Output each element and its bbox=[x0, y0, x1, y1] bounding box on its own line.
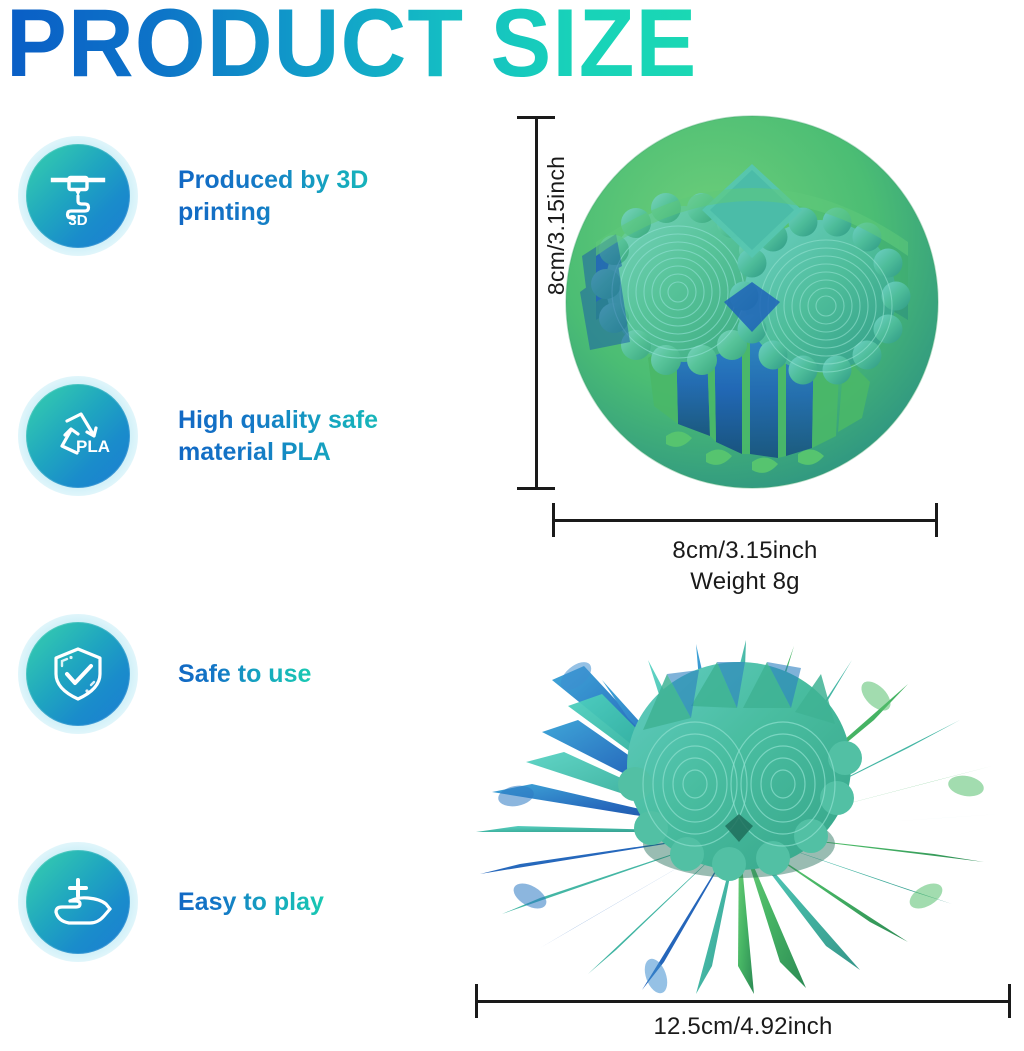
badge-circle bbox=[26, 850, 130, 954]
width-dimension-line-top bbox=[552, 519, 938, 522]
width-dimension-label-bottom: 12.5cm/4.92inch bbox=[475, 1012, 1011, 1043]
feature-item-easy-to-play: Easy to play bbox=[0, 836, 470, 968]
weight-label: Weight 8g bbox=[552, 567, 938, 598]
3d-icon-text: 3D bbox=[68, 212, 87, 229]
width-dimension-line-bottom bbox=[475, 1000, 1011, 1003]
feature-label: High quality safe material PLA bbox=[178, 404, 428, 468]
width-and-weight-label-top: 8cm/3.15inch Weight 8g bbox=[552, 536, 938, 597]
feature-label: Safe to use bbox=[178, 658, 311, 690]
feature-badge-easy-play bbox=[12, 836, 144, 968]
height-dimension-line bbox=[535, 116, 538, 490]
feature-badge-3d-printing: 3D bbox=[12, 130, 144, 262]
product-image-gear-ball-expanded bbox=[456, 596, 1022, 994]
height-dimension-label: 8cm/3.15inch bbox=[543, 156, 570, 295]
recycling-pla-icon: PLA bbox=[43, 401, 113, 471]
product-image-gear-ball-closed bbox=[556, 106, 948, 498]
feature-label: Produced by 3D printing bbox=[178, 164, 428, 228]
hand-plus-icon bbox=[44, 868, 112, 936]
badge-circle: 3D bbox=[26, 144, 130, 248]
height-dimension-cap-bottom bbox=[517, 487, 555, 490]
feature-item-3d-printing: 3D Produced by 3D printing bbox=[0, 130, 470, 262]
width-dimension-cap-right-top bbox=[935, 503, 938, 537]
feature-badge-safe bbox=[12, 608, 144, 740]
feature-badge-pla: PLA bbox=[12, 370, 144, 502]
page-title: PRODUCT SIZE bbox=[6, 0, 697, 96]
pla-icon-text: PLA bbox=[76, 437, 110, 456]
width-dimension-label-top: 8cm/3.15inch bbox=[552, 536, 938, 567]
feature-label: Easy to play bbox=[178, 886, 324, 918]
3d-printer-icon: 3D bbox=[45, 163, 111, 229]
badge-circle: PLA bbox=[26, 384, 130, 488]
feature-item-safe-to-use: Safe to use bbox=[0, 608, 470, 740]
shield-check-icon bbox=[46, 642, 110, 706]
badge-circle bbox=[26, 622, 130, 726]
height-dimension-cap-top bbox=[517, 116, 555, 119]
feature-item-pla-material: PLA High quality safe material PLA bbox=[0, 370, 470, 502]
width-dimension-cap-left-top bbox=[552, 503, 555, 537]
